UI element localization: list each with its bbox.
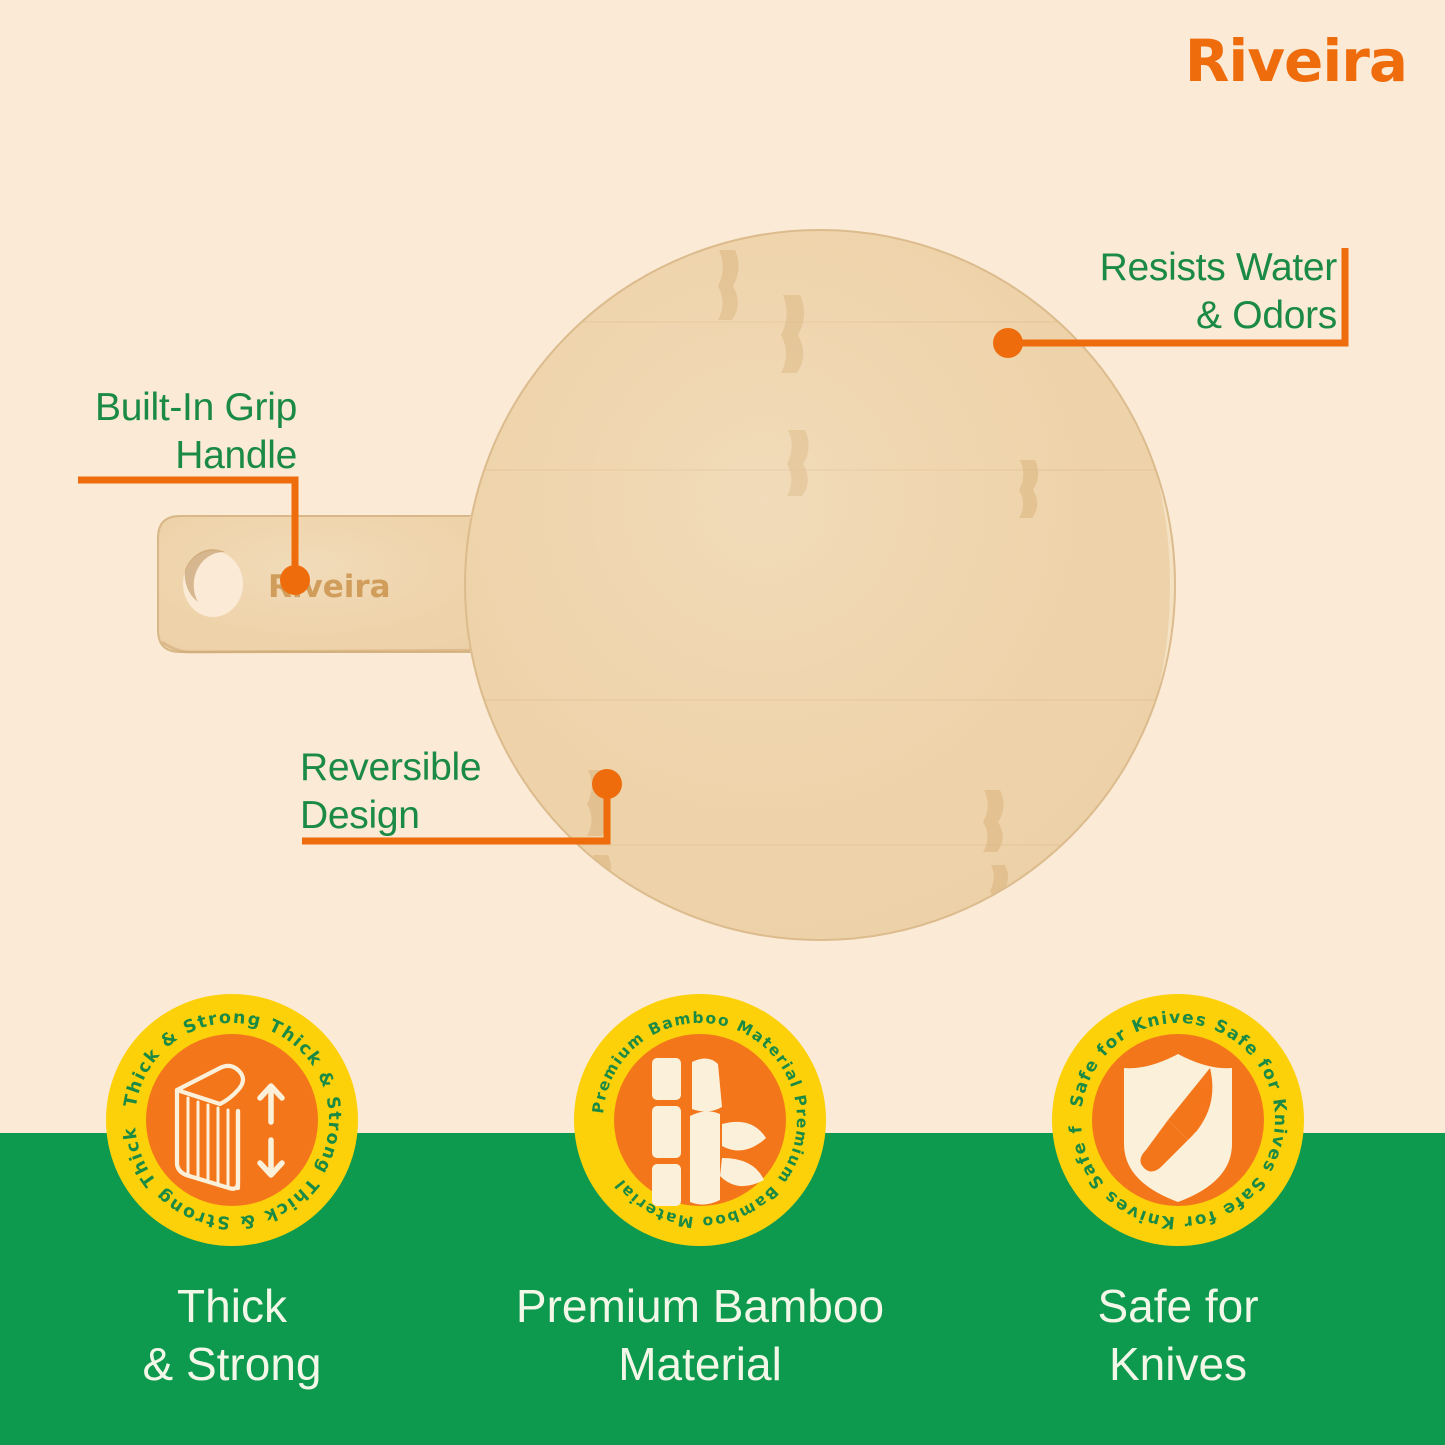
callout-label-grip-handle: Built-In Grip Handle <box>75 384 297 479</box>
handle-engraving: Riveira <box>268 569 391 605</box>
shield-knife-icon <box>1124 1054 1232 1202</box>
badge-thick-strong: Thick & Strong Thick & Strong Thick & St… <box>104 992 360 1248</box>
badge-safe-for-knives: Safe for Knives Safe for Knives Safe for… <box>1050 992 1306 1248</box>
badge-caption-premium-bamboo: Premium Bamboo Material <box>500 1278 900 1393</box>
callout-label-resists-water: Resists Water & Odors <box>1100 244 1337 339</box>
badge-premium-bamboo: Premium Bamboo Material Premium Bamboo M… <box>572 992 828 1248</box>
badge-caption-thick-strong: Thick & Strong <box>92 1278 372 1393</box>
callout-label-reversible-design: Reversible Design <box>300 744 481 839</box>
badge-caption-safe-for-knives: Safe for Knives <box>1030 1278 1326 1393</box>
infographic-canvas: Riveira <box>0 0 1445 1445</box>
round-board <box>465 230 1200 940</box>
